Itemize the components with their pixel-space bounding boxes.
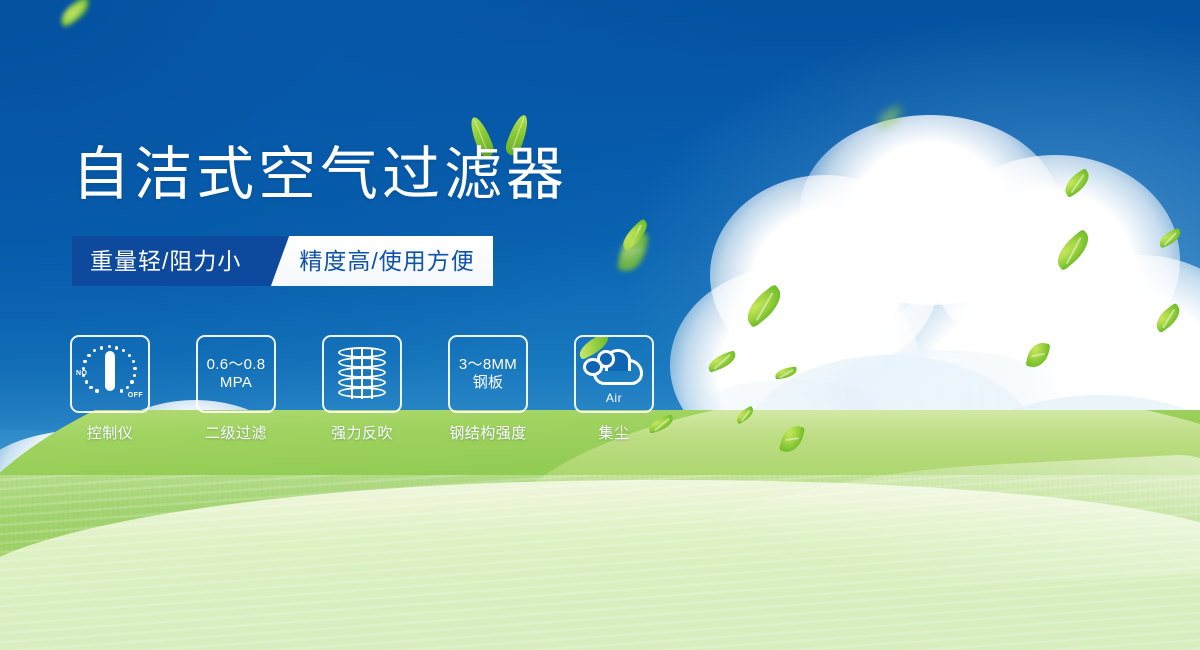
feature-item-blowback[interactable]: 强力反吹 xyxy=(322,335,402,443)
feature-item-filtration[interactable]: 0.6～0.8 MPA 二级过滤 xyxy=(196,335,276,443)
gauge-icon: NO OFF xyxy=(78,344,142,404)
feature-icon-box: Air xyxy=(574,335,654,413)
product-banner: 自洁式空气过滤器 重量轻/阻力小 精度高/使用方便 xyxy=(0,0,1200,650)
feature-label-dust: 集尘 xyxy=(598,422,629,443)
feature-item-steel[interactable]: 3～8MM 钢板 钢结构强度 xyxy=(448,335,528,443)
feature-label-steel: 钢结构强度 xyxy=(449,422,527,443)
feature-icon-box: 0.6～0.8 MPA xyxy=(196,335,276,413)
feature-list: NO OFF 控制仪 0.6～0.8 MPA 二级过滤 xyxy=(70,335,654,443)
cloud-air-icon: Air xyxy=(581,345,647,403)
feature-item-dust[interactable]: Air 集尘 xyxy=(574,335,654,443)
pressure-range: 0.6～0.8 xyxy=(207,356,266,374)
feature-icon-box xyxy=(322,335,402,413)
feature-icon-box: 3～8MM 钢板 xyxy=(448,335,528,413)
subtitle-segment-right: 精度高/使用方便 xyxy=(277,236,492,286)
pressure-text-icon: 0.6～0.8 MPA xyxy=(207,356,266,392)
gauge-label-on: NO xyxy=(76,370,87,377)
subtitle-segment-left: 重量轻/阻力小 xyxy=(72,236,263,286)
cloud-small xyxy=(583,358,603,376)
subtitle-bar: 重量轻/阻力小 精度高/使用方便 xyxy=(72,236,493,286)
feature-label-blowback: 强力反吹 xyxy=(331,422,393,443)
gauge-needle xyxy=(105,351,115,391)
banner-content: 自洁式空气过滤器 重量轻/阻力小 精度高/使用方便 xyxy=(0,0,1200,650)
air-label: Air xyxy=(581,391,647,405)
steel-material: 钢板 xyxy=(459,374,517,392)
gauge-label-off: OFF xyxy=(128,392,143,399)
feature-item-controller[interactable]: NO OFF 控制仪 xyxy=(70,335,150,443)
steel-plate-text-icon: 3～8MM 钢板 xyxy=(459,356,517,392)
filter-pleats-icon xyxy=(335,345,389,403)
feature-label-filtration: 二级过滤 xyxy=(205,422,267,443)
feature-label-controller: 控制仪 xyxy=(87,422,134,443)
steel-thickness: 3～8MM xyxy=(459,356,517,374)
banner-title: 自洁式空气过滤器 xyxy=(72,143,568,207)
pressure-unit: MPA xyxy=(207,374,266,392)
feature-icon-box: NO OFF xyxy=(70,335,150,413)
